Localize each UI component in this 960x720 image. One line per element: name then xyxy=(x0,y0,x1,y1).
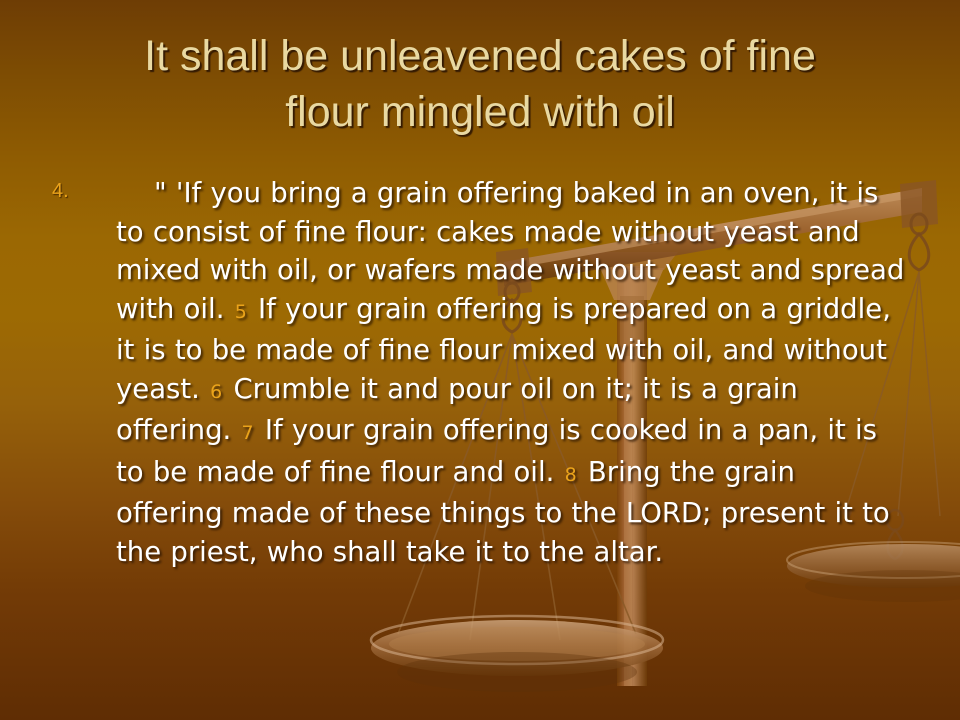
list-item: 4. " 'If you bring a grain offering bake… xyxy=(44,174,924,571)
verse-number: 6 xyxy=(209,381,224,403)
verse-number: 5 xyxy=(234,301,249,323)
verse-number: 8 xyxy=(564,464,579,486)
slide-body: 4. " 'If you bring a grain offering bake… xyxy=(44,174,924,571)
slide-title: It shall be unleavened cakes of fine flo… xyxy=(36,28,924,140)
list-item-marker: 4. xyxy=(52,180,69,202)
slide-title-line-2: flour mingled with oil xyxy=(36,84,924,140)
presentation-slide: It shall be unleavened cakes of fine flo… xyxy=(0,0,960,720)
verse-number: 7 xyxy=(241,422,256,444)
scripture-passage-text: " 'If you bring a grain offering baked i… xyxy=(116,174,906,571)
slide-title-line-1: It shall be unleavened cakes of fine xyxy=(36,28,924,84)
